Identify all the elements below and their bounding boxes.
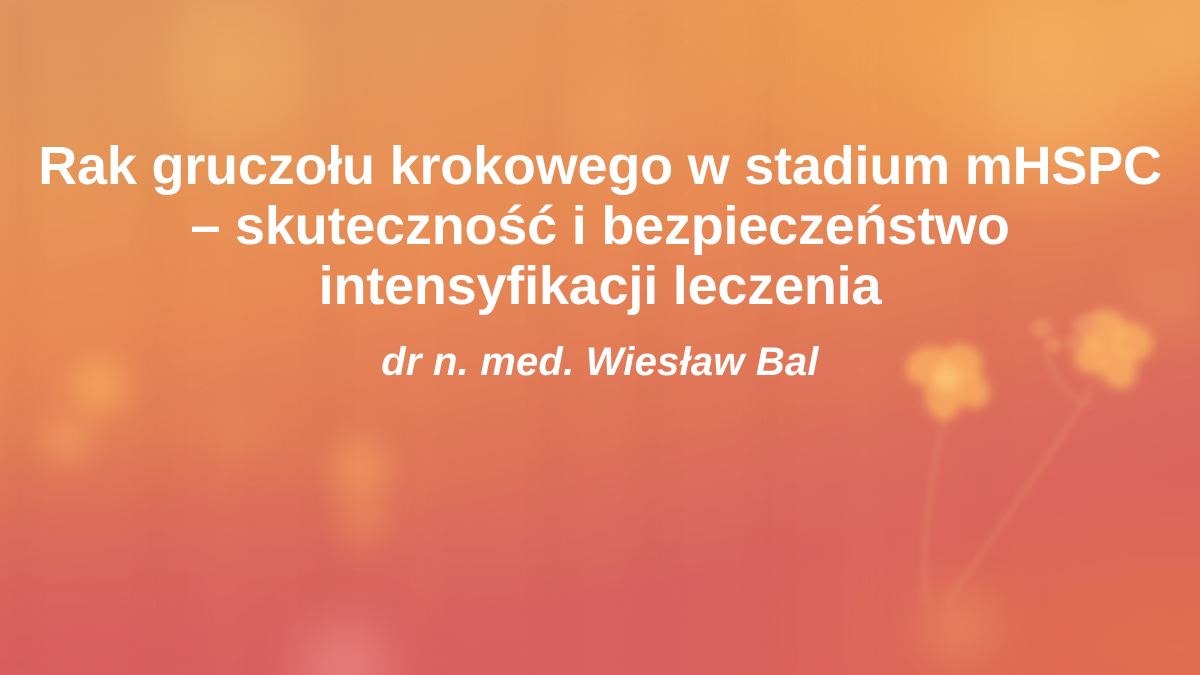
- slide-title: Rak gruczołu krokowego w stadium mHSPC –…: [30, 136, 1170, 316]
- slide-author: dr n. med. Wiesław Bal: [30, 338, 1170, 386]
- slide-text-block: Rak gruczołu krokowego w stadium mHSPC –…: [0, 136, 1200, 386]
- title-slide: Rak gruczołu krokowego w stadium mHSPC –…: [0, 0, 1200, 675]
